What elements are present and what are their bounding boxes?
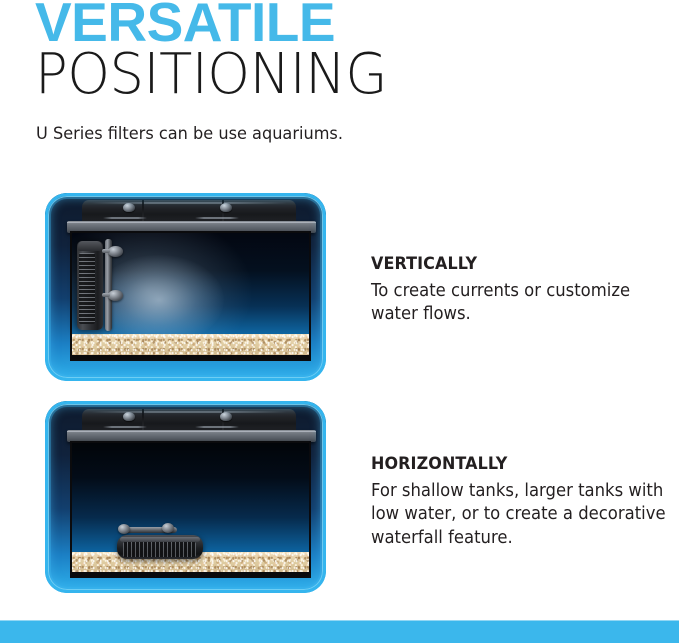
hood-knob-left — [123, 412, 135, 421]
suction-cup-upper — [108, 246, 123, 257]
feature-body-horizontal: For shallow tanks, larger tanks with low… — [371, 480, 672, 551]
hood-vent-slot — [195, 426, 239, 428]
filter-intake-fins — [79, 253, 95, 323]
hood-vent-slot — [103, 217, 147, 219]
feature-body-vertical: To create currents or customize water fl… — [371, 280, 672, 327]
filter-intake-fins — [123, 542, 196, 556]
footer-bar-highlight — [0, 620, 679, 621]
suction-cup-right — [162, 523, 174, 533]
suction-cup-lower — [108, 290, 123, 301]
illustration-horizontal-tank — [45, 401, 326, 593]
hood-knob-right — [220, 203, 232, 212]
hood-knob-left — [123, 203, 135, 212]
tank-gravel — [72, 334, 309, 359]
filter-unit-vertical — [77, 241, 103, 330]
suction-cup-left — [118, 524, 130, 534]
filter-unit-horizontal — [117, 535, 203, 559]
hood-vent-slot — [195, 217, 239, 219]
footer-accent-bar — [0, 620, 679, 643]
feature-caption-horizontal: HORIZONTALLY For shallow tanks, larger t… — [371, 455, 671, 551]
suction-cup-stem — [102, 249, 110, 253]
page-title-secondary: POSITIONING — [35, 47, 387, 103]
feature-caption-vertical: VERTICALLY To create currents or customi… — [371, 255, 671, 327]
page-subtitle: U Series filters can be use aquariums. — [36, 126, 343, 143]
feature-heading-horizontal: HORIZONTALLY — [371, 455, 653, 474]
illustration-vertical-tank — [45, 193, 326, 381]
suction-cup-stem — [102, 293, 110, 297]
feature-heading-vertical: VERTICALLY — [371, 255, 653, 274]
filter-cap — [78, 241, 102, 251]
hood-knob-right — [220, 412, 232, 421]
hood-vent-slot — [103, 426, 147, 428]
